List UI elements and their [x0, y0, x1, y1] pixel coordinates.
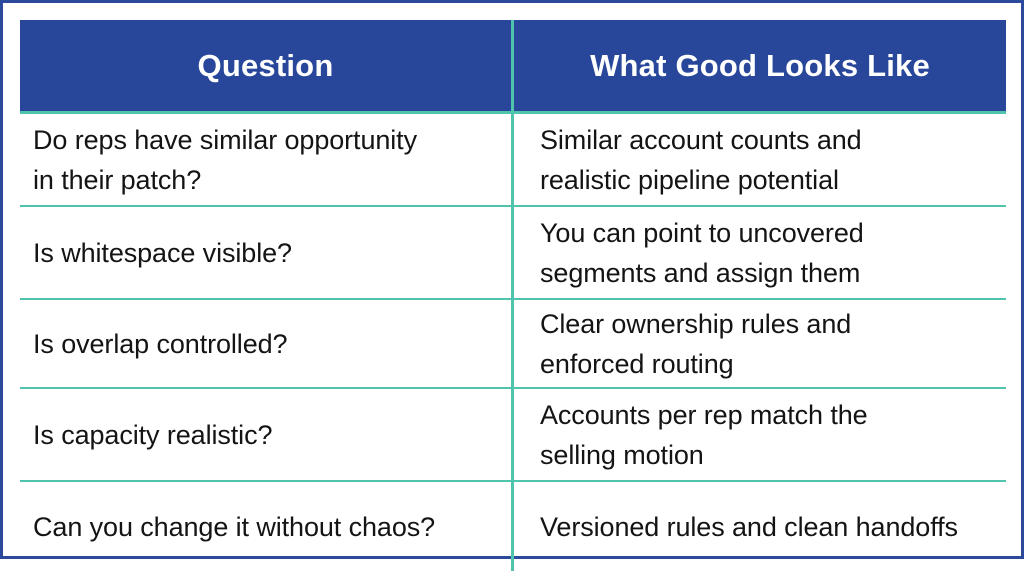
table-header-row: Question What Good Looks Like — [20, 20, 1006, 111]
cell-what-good-looks-like: Accounts per rep match the selling motio… — [514, 389, 1006, 480]
column-header-question: Question — [20, 20, 514, 111]
table-row: Do reps have similar opportunity in thei… — [20, 114, 1006, 207]
table-row: Is whitespace visible? You can point to … — [20, 207, 1006, 300]
cell-question: Can you change it without chaos? — [20, 482, 514, 571]
table-row: Is capacity realistic? Accounts per rep … — [20, 389, 1006, 482]
cell-good-line: segments and assign them — [540, 253, 998, 293]
cell-question: Is overlap controlled? — [20, 300, 514, 387]
cell-what-good-looks-like: Similar account counts and realistic pip… — [514, 114, 1006, 205]
cell-question-line: Is capacity realistic? — [33, 415, 501, 455]
cell-good-line: Similar account counts and — [540, 120, 998, 160]
cell-what-good-looks-like: You can point to uncovered segments and … — [514, 207, 1006, 298]
column-header-what-good-looks-like-label: What Good Looks Like — [590, 48, 930, 84]
slide-frame: Question What Good Looks Like Do reps ha… — [0, 0, 1024, 559]
cell-good-line: selling motion — [540, 435, 998, 475]
cell-good-line: realistic pipeline potential — [540, 160, 998, 200]
cell-question: Is capacity realistic? — [20, 389, 514, 480]
table-row: Is overlap controlled? Clear ownership r… — [20, 300, 1006, 389]
cell-good-line: Versioned rules and clean handoffs — [540, 507, 998, 547]
cell-good-line: enforced routing — [540, 344, 998, 384]
table-row: Can you change it without chaos? Version… — [20, 482, 1006, 571]
cell-question-line: Can you change it without chaos? — [33, 507, 501, 547]
cell-question-line: in their patch? — [33, 160, 501, 200]
cell-question-line: Do reps have similar opportunity — [33, 120, 501, 160]
cell-question: Is whitespace visible? — [20, 207, 514, 298]
column-header-question-label: Question — [198, 48, 334, 84]
cell-good-line: Accounts per rep match the — [540, 395, 998, 435]
table-body: Do reps have similar opportunity in thei… — [20, 114, 1006, 571]
cell-question-line: Is overlap controlled? — [33, 324, 501, 364]
cell-question: Do reps have similar opportunity in thei… — [20, 114, 514, 205]
cell-question-line: Is whitespace visible? — [33, 233, 501, 273]
cell-good-line: You can point to uncovered — [540, 213, 998, 253]
column-header-what-good-looks-like: What Good Looks Like — [514, 20, 1006, 111]
cell-what-good-looks-like: Clear ownership rules and enforced routi… — [514, 300, 1006, 387]
comparison-table: Question What Good Looks Like Do reps ha… — [20, 20, 1006, 544]
cell-good-line: Clear ownership rules and — [540, 304, 998, 344]
cell-what-good-looks-like: Versioned rules and clean handoffs — [514, 482, 1006, 571]
